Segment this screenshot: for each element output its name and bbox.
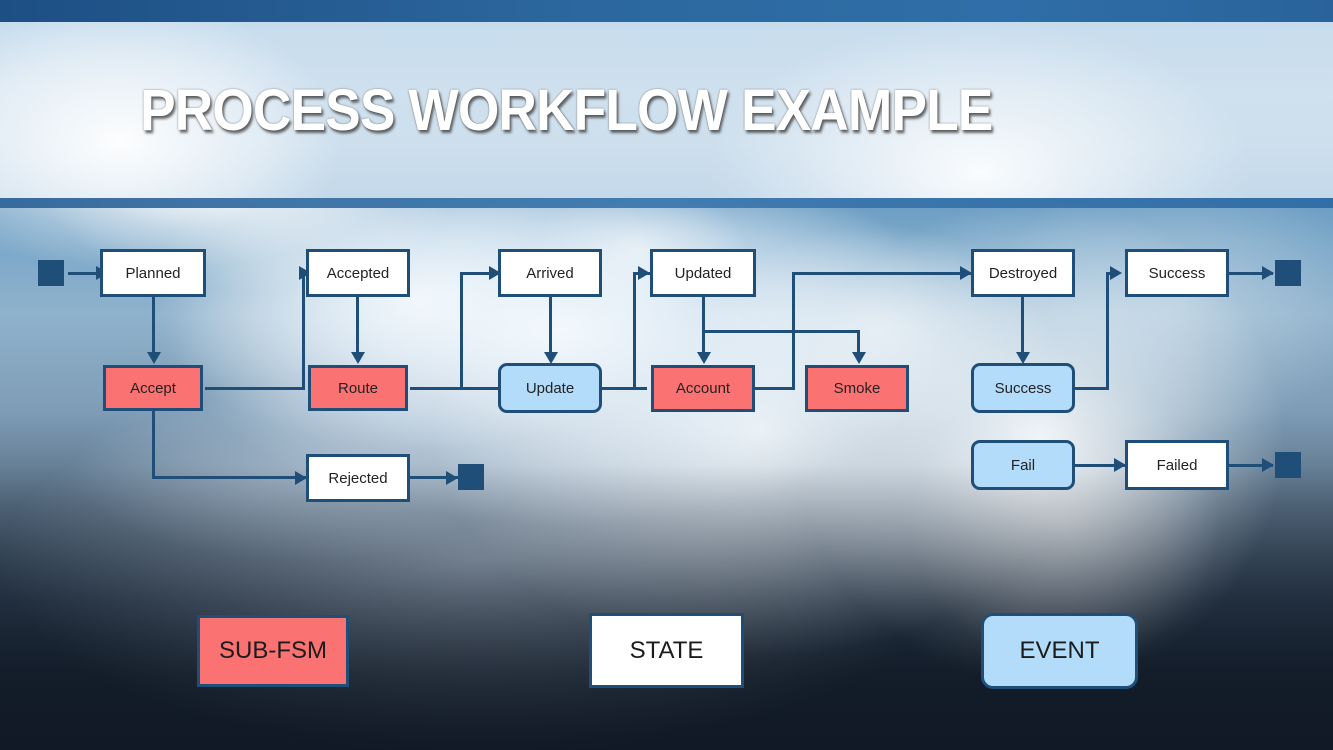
legend-item-event[interactable]: EVENT <box>981 613 1138 689</box>
edge-accept-rejected-v <box>152 410 155 478</box>
node-label: Rejected <box>328 470 387 487</box>
node-update[interactable]: Update <box>498 363 602 413</box>
legend-label: SUB-FSM <box>219 637 327 665</box>
arrowhead-update-updated <box>638 266 650 280</box>
legend-label: EVENT <box>1019 637 1099 665</box>
edge-updated-smoke-h <box>702 330 860 333</box>
node-route[interactable]: Route <box>308 365 408 411</box>
page-title: PROCESS WORKFLOW EXAMPLE <box>140 79 1060 143</box>
edge-route-arrived-v <box>460 272 463 390</box>
arrowhead-updated-smoke <box>852 352 866 364</box>
node-label: Update <box>526 380 574 397</box>
legend-item-sub-fsm[interactable]: SUB-FSM <box>197 615 349 687</box>
node-smoke[interactable]: Smoke <box>805 365 909 412</box>
node-label: Fail <box>1011 457 1035 474</box>
node-destroyed[interactable]: Destroyed <box>971 249 1075 297</box>
edge-accept-accepted-h1 <box>205 387 305 390</box>
node-failed[interactable]: Failed <box>1125 440 1229 490</box>
edge-arrived-update <box>549 296 552 354</box>
arrowhead-successev-successst <box>1110 266 1122 280</box>
arrowhead-successst-end <box>1262 266 1274 280</box>
node-fail[interactable]: Fail <box>971 440 1075 490</box>
legend-label: STATE <box>630 637 704 665</box>
start-terminal[interactable] <box>38 260 64 286</box>
node-planned[interactable]: Planned <box>100 249 206 297</box>
node-label: Route <box>338 380 378 397</box>
node-accept[interactable]: Accept <box>103 365 203 411</box>
node-arrived[interactable]: Arrived <box>498 249 602 297</box>
edge-successev-successst-v <box>1106 272 1109 390</box>
arrowhead-failed-end <box>1262 458 1274 472</box>
node-updated[interactable]: Updated <box>650 249 756 297</box>
edge-accepted-route <box>356 296 359 354</box>
top-accent-bar <box>0 0 1333 22</box>
edge-accept-rejected-h <box>152 476 307 479</box>
arrowhead-accepted-route <box>351 352 365 364</box>
slide-canvas: PROCESS WORKFLOW EXAMPLE <box>0 0 1333 750</box>
edge-update-updated-h1 <box>601 387 647 390</box>
arrowhead-planned-accept <box>147 352 161 364</box>
edge-account-destroyed-h1 <box>755 387 795 390</box>
edge-updated-account <box>702 296 705 354</box>
node-success-event[interactable]: Success <box>971 363 1075 413</box>
node-label: Accepted <box>327 265 390 282</box>
edge-account-destroyed-h2 <box>792 272 972 275</box>
arrowhead-updated-account <box>697 352 711 364</box>
edge-successev-successst-h1 <box>1073 387 1109 390</box>
end-terminal-failed[interactable] <box>1275 452 1301 478</box>
node-label: Success <box>1149 265 1206 282</box>
node-account[interactable]: Account <box>651 365 755 412</box>
node-label: Smoke <box>834 380 881 397</box>
node-label: Destroyed <box>989 265 1057 282</box>
node-success-state[interactable]: Success <box>1125 249 1229 297</box>
edge-planned-accept <box>152 296 155 354</box>
edge-account-destroyed-v <box>792 272 795 390</box>
node-label: Failed <box>1157 457 1198 474</box>
node-label: Arrived <box>526 265 574 282</box>
node-label: Planned <box>125 265 180 282</box>
edge-start-planned <box>68 272 98 275</box>
end-terminal-success[interactable] <box>1275 260 1301 286</box>
node-label: Accept <box>130 380 176 397</box>
legend-item-state[interactable]: STATE <box>589 613 744 688</box>
edge-accept-accepted-v <box>302 272 305 390</box>
node-label: Account <box>676 380 730 397</box>
node-label: Success <box>995 380 1052 397</box>
end-terminal-rejected[interactable] <box>458 464 484 490</box>
title-band-underline <box>0 198 1333 208</box>
node-rejected[interactable]: Rejected <box>306 454 410 502</box>
node-label: Updated <box>675 265 732 282</box>
edge-route-arrived-h1 <box>410 387 503 390</box>
edge-destroyed-success <box>1021 296 1024 354</box>
arrowhead-rejected-end <box>446 471 458 485</box>
edge-update-updated-v <box>633 272 636 390</box>
node-accepted[interactable]: Accepted <box>306 249 410 297</box>
